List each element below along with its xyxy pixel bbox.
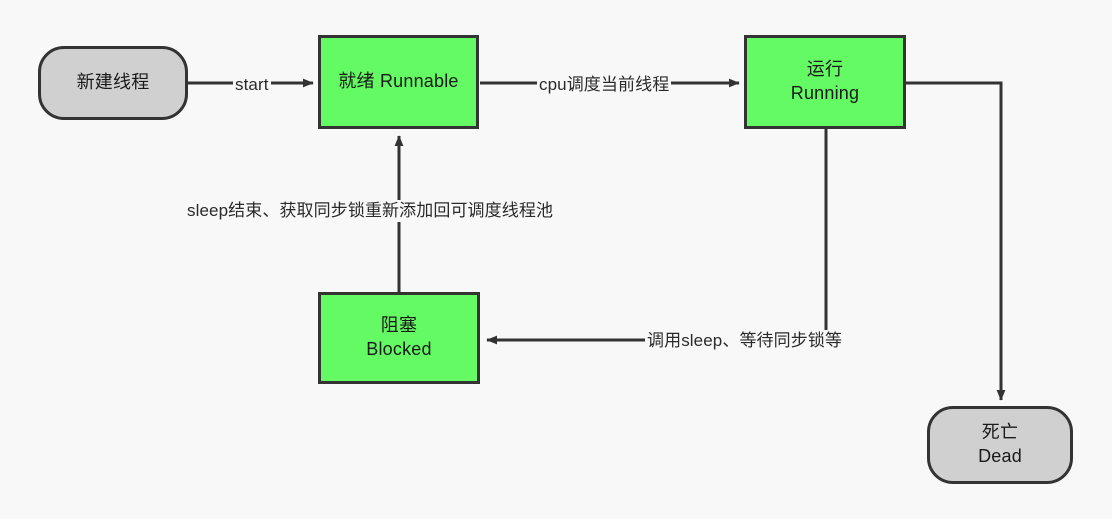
node-blocked-label: 阻塞 Blocked	[362, 314, 435, 362]
node-running-label: 运行 Running	[787, 58, 863, 106]
node-running[interactable]: 运行 Running	[744, 35, 906, 129]
edge-running-to-dead	[906, 83, 1001, 400]
node-dead[interactable]: 死亡 Dead	[927, 406, 1073, 484]
node-new-thread[interactable]: 新建线程	[38, 46, 188, 120]
node-blocked[interactable]: 阻塞 Blocked	[318, 292, 480, 384]
node-dead-label: 死亡 Dead	[974, 421, 1026, 469]
edge-running-to-blocked	[487, 129, 826, 340]
edge-label-sleep-end: sleep结束、获取同步锁重新添加回可调度线程池	[185, 200, 555, 222]
node-new-thread-label: 新建线程	[73, 71, 154, 95]
edge-label-start: start	[233, 74, 271, 96]
edge-label-cpu-schedule: cpu调度当前线程	[537, 74, 671, 96]
node-runnable-label: 就绪 Runnable	[334, 70, 462, 94]
node-runnable[interactable]: 就绪 Runnable	[318, 35, 479, 129]
diagram-canvas: 新建线程 就绪 Runnable 运行 Running 阻塞 Blocked 死…	[0, 0, 1112, 519]
edge-label-sleep-wait: 调用sleep、等待同步锁等	[645, 330, 844, 352]
